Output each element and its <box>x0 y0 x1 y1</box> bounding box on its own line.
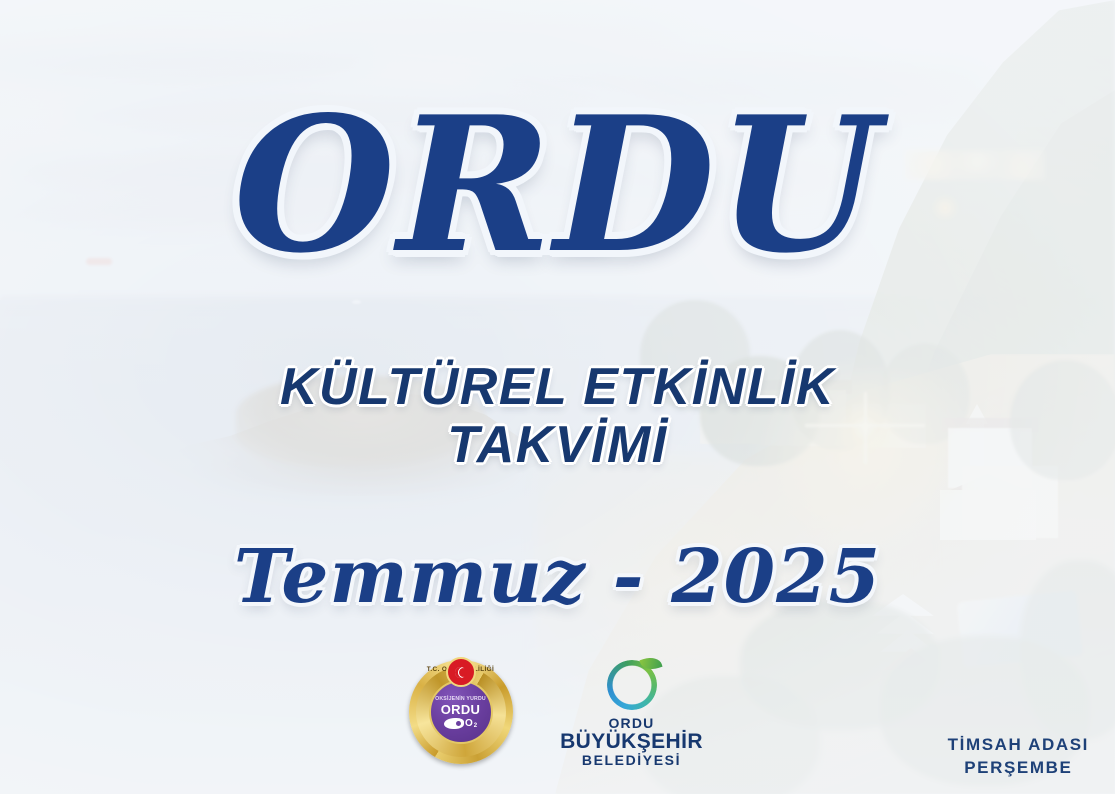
crescent-icon <box>455 667 466 678</box>
event-calendar-poster: ORDU KÜLTÜREL ETKİNLİK TAKVİMİ Temmuz - … <box>0 0 1115 794</box>
municipality-line-2: BÜYÜKŞEHİR <box>560 731 703 753</box>
poster-subtitle: KÜLTÜREL ETKİNLİK TAKVİMİ <box>0 358 1115 474</box>
seal-purple-core: OKSİJENİN YURDU ORDU O 2 <box>429 680 493 744</box>
month-year-label: Temmuz - 2025 <box>0 540 1115 614</box>
caption-line-1: TİMSAH ADASI <box>948 735 1089 754</box>
municipality-wordmark: ORDU BÜYÜKŞEHİR BELEDİYESİ <box>560 716 703 767</box>
municipality-line-1: ORDU <box>560 716 703 731</box>
municipality-line-3: BELEDİYESİ <box>560 753 703 768</box>
poster-content: ORDU KÜLTÜREL ETKİNLİK TAKVİMİ Temmuz - … <box>0 0 1115 794</box>
subtitle-line-1: KÜLTÜREL ETKİNLİK <box>280 358 835 416</box>
seal-city-name: ORDU <box>441 703 480 716</box>
page-title: ORDU <box>0 92 1115 278</box>
subtitle-line-2: TAKVİMİ <box>0 416 1115 474</box>
photo-location-caption: TİMSAH ADASI PERŞEMBE <box>948 734 1089 780</box>
oxygen-symbol: O 2 <box>444 718 477 729</box>
municipality-mark <box>607 660 657 710</box>
oxygen-subscript: 2 <box>474 723 477 729</box>
seal-tagline: OKSİJENİN YURDU <box>435 696 486 702</box>
ordu-governorship-seal: T.C. ORDU VALİLİĞİ OKSİJENİN YURDU ORDU … <box>409 660 513 764</box>
turkish-flag-icon <box>446 657 476 687</box>
oxygen-leaf-icon <box>444 718 464 729</box>
oxygen-letter: O <box>465 719 473 729</box>
caption-line-2: PERŞEMBE <box>948 757 1089 780</box>
ordu-metropolitan-municipality-logo: ORDU BÜYÜKŞEHİR BELEDİYESİ <box>557 660 707 767</box>
